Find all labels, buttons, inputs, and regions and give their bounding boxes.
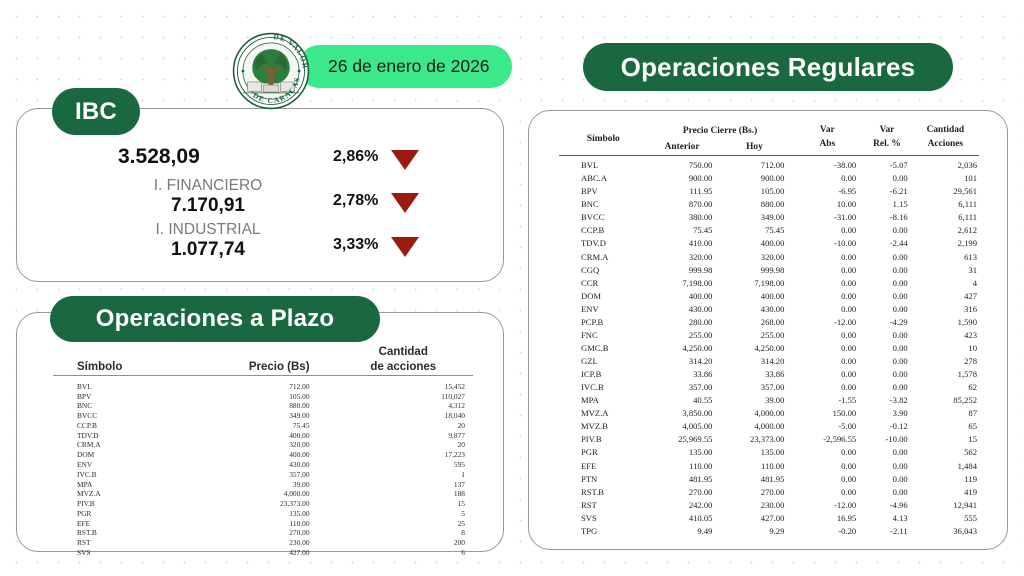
regulares-cell-hoy: 135.00 [716, 446, 792, 459]
table-row: EFE110.0025 [53, 519, 473, 529]
regulares-cell-anterior: 135.00 [648, 446, 717, 459]
regulares-cell-cantidad: 427 [912, 290, 979, 303]
regulares-cell-var_abs: 0.00 [792, 368, 862, 381]
regulares-cell-var_abs: -1.55 [792, 394, 862, 407]
plazo-cell-simbolo: CRM.A [53, 440, 176, 450]
regulares-cell-anterior: 33.86 [648, 368, 717, 381]
regulares-cell-anterior: 111.95 [648, 185, 717, 198]
regulares-cell-hoy: 4,000.00 [716, 420, 792, 433]
regulares-cell-var_rel: 3.90 [862, 407, 911, 420]
regulares-cell-hoy: 75.45 [716, 224, 792, 237]
table-row: PIV.B23,373.0015 [53, 499, 473, 509]
regulares-cell-var_abs: -12.00 [792, 499, 862, 512]
regulares-cell-hoy: 255.00 [716, 329, 792, 342]
reg-col-cantidad: Cantidad Acciones [912, 123, 979, 155]
ibc-financiero-value: 7.170,91 [171, 195, 245, 217]
regulares-cell-cantidad: 555 [912, 512, 979, 525]
regulares-cell-cantidad: 101 [912, 172, 979, 185]
plazo-cell-cantidad: 17,223 [342, 450, 473, 460]
regulares-cell-hoy: 357.00 [716, 381, 792, 394]
regulares-cell-anterior: 410.05 [648, 512, 717, 525]
table-row: BVCC349.0018,040 [53, 411, 473, 421]
regulares-cell-simbolo: RST [559, 499, 648, 512]
table-row: IVC.B357.00357.000.000.0062 [559, 381, 979, 394]
table-row: CCP.B75.4575.450.000.002,612 [559, 224, 979, 237]
regulares-cell-hoy: 400.00 [716, 237, 792, 250]
operaciones-plazo-card: Símbolo Precio (Bs) Cantidad de acciones… [16, 312, 504, 552]
regulares-cell-cantidad: 423 [912, 329, 979, 342]
regulares-cell-anterior: 314.20 [648, 355, 717, 368]
table-row: MVZ.A4,000.00188 [53, 489, 473, 499]
regulares-cell-cantidad: 562 [912, 446, 979, 459]
table-row: MVZ.B4,005.004,000.00-5.00-0.1265 [559, 420, 979, 433]
table-row: CGQ999.98999.980.000.0031 [559, 264, 979, 277]
table-row: CRM.A320.0020 [53, 440, 473, 450]
plazo-cell-cantidad: 4,312 [342, 401, 473, 411]
regulares-cell-simbolo: PIV.B [559, 433, 648, 446]
regulares-cell-simbolo: CCP.B [559, 224, 648, 237]
regulares-cell-var_rel: -2.11 [862, 525, 911, 538]
regulares-cell-cantidad: 31 [912, 264, 979, 277]
regulares-cell-simbolo: MPA [559, 394, 648, 407]
regulares-cell-var_abs: 0.00 [792, 329, 862, 342]
regulares-cell-anterior: 4,250.00 [648, 342, 717, 355]
table-row: TPG9.499.29-0.20-2.1136,043 [559, 525, 979, 538]
regulares-cell-simbolo: MVZ.B [559, 420, 648, 433]
regulares-cell-var_rel: 0.00 [862, 224, 911, 237]
plazo-header-row: Símbolo Precio (Bs) Cantidad de acciones [53, 345, 473, 376]
regulares-cell-hoy: 270.00 [716, 486, 792, 499]
regulares-cell-var_abs: 0.00 [792, 486, 862, 499]
regulares-cell-var_abs: 0.00 [792, 446, 862, 459]
regulares-cell-var_rel: -2.44 [862, 237, 911, 250]
regulares-cell-var_rel: 0.00 [862, 329, 911, 342]
regulares-cell-var_abs: 150.00 [792, 407, 862, 420]
regulares-cell-hoy: 712.00 [716, 159, 792, 172]
regulares-cell-anterior: 242.00 [648, 499, 717, 512]
regulares-cell-anterior: 255.00 [648, 329, 717, 342]
regulares-cell-var_rel: -4.29 [862, 316, 911, 329]
regulares-cell-hoy: 7,198.00 [716, 277, 792, 290]
regulares-cell-var_abs: 0.00 [792, 290, 862, 303]
regulares-cell-var_abs: 0.00 [792, 224, 862, 237]
table-row: RST242.00230.00-12.00-4.9612,941 [559, 499, 979, 512]
regulares-cell-simbolo: TPG [559, 525, 648, 538]
regulares-cell-simbolo: RST.B [559, 486, 648, 499]
regulares-cell-var_abs: 0.00 [792, 303, 862, 316]
table-row: BPV105.00110,027 [53, 392, 473, 402]
regulares-cell-hoy: 105.00 [716, 185, 792, 198]
regulares-cell-anterior: 380.00 [648, 211, 717, 224]
ibc-pill-label: IBC [75, 98, 117, 126]
regulares-cell-anterior: 357.00 [648, 381, 717, 394]
table-row: BVL750.00712.00-38.00-5.072,036 [559, 159, 979, 172]
bvc-logo: BOLSA DE VALORES DE CARACAS [232, 32, 310, 110]
regulares-cell-hoy: 400.00 [716, 290, 792, 303]
table-row: BNC880.004,312 [53, 401, 473, 411]
table-row: PIV.B25,969.5523,373.00-2,596.55-10.0015 [559, 433, 979, 446]
regulares-cell-cantidad: 613 [912, 251, 979, 264]
plazo-cell-simbolo: BPV [53, 392, 176, 402]
plazo-cell-precio: 357.00 [176, 470, 341, 480]
regulares-cell-var_rel: -0.12 [862, 420, 911, 433]
regulares-cell-var_rel: 0.00 [862, 381, 911, 394]
regulares-cell-cantidad: 10 [912, 342, 979, 355]
ibc-main-pct: 2,86% [333, 148, 378, 166]
plazo-cell-cantidad: 188 [342, 489, 473, 499]
ibc-industrial-label: I. INDUSTRIAL [155, 221, 260, 239]
date-label: 26 de enero de 2026 [328, 56, 490, 77]
plazo-cell-precio: 230.00 [176, 538, 341, 548]
regulares-cell-cantidad: 316 [912, 303, 979, 316]
plazo-cell-simbolo: MPA [53, 480, 176, 490]
plazo-cell-cantidad: 18,040 [342, 411, 473, 421]
plazo-cell-simbolo: SVS [53, 548, 176, 558]
ibc-financiero-label: I. FINANCIERO [154, 177, 263, 195]
regulares-cell-hoy: 481.95 [716, 473, 792, 486]
regulares-cell-simbolo: EFE [559, 460, 648, 473]
plazo-col-cantidad: Cantidad de acciones [342, 345, 473, 376]
plazo-cell-simbolo: DOM [53, 450, 176, 460]
table-row: ENV430.00595 [53, 460, 473, 470]
plazo-cell-simbolo: TDV.D [53, 431, 176, 441]
table-row: MPA39.00137 [53, 480, 473, 490]
regulares-cell-anterior: 280.00 [648, 316, 717, 329]
regulares-cell-var_abs: 0.00 [792, 172, 862, 185]
regulares-cell-var_abs: -31.00 [792, 211, 862, 224]
plazo-cell-cantidad: 1 [342, 470, 473, 480]
plazo-cell-simbolo: BNC [53, 401, 176, 411]
regulares-cell-var_abs: 0.00 [792, 342, 862, 355]
plazo-cell-precio: 400.00 [176, 431, 341, 441]
regulares-cell-var_abs: 0.00 [792, 277, 862, 290]
table-row: PGR135.00135.000.000.00562 [559, 446, 979, 459]
ibc-row-industrial: I. INDUSTRIAL 1.077,74 [118, 221, 298, 261]
regulares-cell-var_rel: 0.00 [862, 290, 911, 303]
table-row: MPA40.5539.00-1.55-3.8285,252 [559, 394, 979, 407]
regulares-cell-anterior: 400.00 [648, 290, 717, 303]
plazo-cell-precio: 270.00 [176, 528, 341, 538]
plazo-cell-cantidad: 20 [342, 440, 473, 450]
plazo-cell-cantidad: 200 [342, 538, 473, 548]
regulares-cell-simbolo: GZL [559, 355, 648, 368]
regulares-cell-hoy: 268.00 [716, 316, 792, 329]
reg-col-var-rel: Var Rel. % [862, 123, 911, 155]
regulares-cell-var_rel: 0.00 [862, 172, 911, 185]
plazo-cell-precio: 349.00 [176, 411, 341, 421]
regulares-cell-var_rel: -3.82 [862, 394, 911, 407]
regulares-cell-anterior: 9.49 [648, 525, 717, 538]
reg-col-precio-group: Precio Cierre (Bs.) [648, 123, 793, 139]
regulares-cell-hoy: 110.00 [716, 460, 792, 473]
regulares-cell-simbolo: PGR [559, 446, 648, 459]
plazo-cell-cantidad: 15,452 [342, 382, 473, 392]
plazo-table-body: BVL712.0015,452BPV105.00110,027BNC880.00… [53, 382, 473, 558]
regulares-cell-cantidad: 62 [912, 381, 979, 394]
table-row: CCR7,198.007,198.000.000.004 [559, 277, 979, 290]
plazo-col-simbolo: Símbolo [53, 345, 176, 376]
regulares-cell-var_abs: -2,596.55 [792, 433, 862, 446]
regulares-cell-anterior: 110.00 [648, 460, 717, 473]
operaciones-plazo-label: Operaciones a Plazo [96, 305, 335, 333]
plazo-cell-simbolo: MVZ.A [53, 489, 176, 499]
regulares-cell-anterior: 481.95 [648, 473, 717, 486]
plazo-cell-precio: 23,373.00 [176, 499, 341, 509]
regulares-cell-cantidad: 87 [912, 407, 979, 420]
regulares-cell-var_rel: -8.16 [862, 211, 911, 224]
regulares-table-head: Símbolo Precio Cierre (Bs.) Var Abs Var … [559, 123, 979, 159]
plazo-cell-simbolo: CCP.B [53, 421, 176, 431]
regulares-cell-var_rel: 0.00 [862, 303, 911, 316]
plazo-cell-simbolo: PGR [53, 509, 176, 519]
regulares-cell-hoy: 23,373.00 [716, 433, 792, 446]
plazo-cell-cantidad: 110,027 [342, 392, 473, 402]
plazo-cell-simbolo: ENV [53, 460, 176, 470]
regulares-cell-simbolo: ICP.B [559, 368, 648, 381]
plazo-cell-simbolo: RST [53, 538, 176, 548]
regulares-cell-var_rel: -5.07 [862, 159, 911, 172]
regulares-cell-var_rel: 0.00 [862, 355, 911, 368]
regulares-cell-simbolo: CCR [559, 277, 648, 290]
plazo-cell-precio: 400.00 [176, 450, 341, 460]
table-row: ICP.B33.8633.860.000.001,578 [559, 368, 979, 381]
plazo-cell-simbolo: RST.B [53, 528, 176, 538]
regulares-cell-var_abs: 10.00 [792, 198, 862, 211]
ibc-main-down-arrow-icon [391, 150, 419, 170]
table-row: DOM400.00400.000.000.00427 [559, 290, 979, 303]
regulares-cell-var_rel: 0.00 [862, 446, 911, 459]
regulares-cell-var_abs: -0.20 [792, 525, 862, 538]
regulares-cell-anterior: 270.00 [648, 486, 717, 499]
regulares-cell-simbolo: SVS [559, 512, 648, 525]
plazo-cell-cantidad: 6 [342, 548, 473, 558]
regulares-cell-cantidad: 278 [912, 355, 979, 368]
plazo-col-precio: Precio (Bs) [176, 345, 341, 376]
regulares-cell-anterior: 25,969.55 [648, 433, 717, 446]
table-row: PGR135.005 [53, 509, 473, 519]
plazo-cell-precio: 135.00 [176, 509, 341, 519]
regulares-cell-hoy: 33.86 [716, 368, 792, 381]
reg-col-var-abs-line2: Abs [792, 137, 862, 151]
plazo-cell-precio: 430.00 [176, 460, 341, 470]
regulares-cell-hoy: 9.29 [716, 525, 792, 538]
regulares-cell-anterior: 40.55 [648, 394, 717, 407]
regulares-cell-simbolo: FNC [559, 329, 648, 342]
operaciones-plazo-table: Símbolo Precio (Bs) Cantidad de acciones… [53, 345, 473, 558]
regulares-cell-cantidad: 6,111 [912, 198, 979, 211]
table-row: GMC.B4,250.004,250.000.000.0010 [559, 342, 979, 355]
regulares-cell-var_rel: -10.00 [862, 433, 911, 446]
regulares-cell-var_rel: 0.00 [862, 251, 911, 264]
plazo-cell-cantidad: 595 [342, 460, 473, 470]
regulares-cell-var_rel: 0.00 [862, 342, 911, 355]
table-row: EFE110.00110.000.000.001,484 [559, 460, 979, 473]
ibc-pill-heading: IBC [52, 88, 140, 135]
reg-col-cantidad-line1: Cantidad [912, 123, 979, 137]
regulares-cell-hoy: 230.00 [716, 499, 792, 512]
ibc-main-value: 3.528,09 [118, 145, 200, 169]
plazo-cell-cantidad: 5 [342, 509, 473, 519]
regulares-cell-var_abs: 0.00 [792, 355, 862, 368]
operaciones-regulares-card: Símbolo Precio Cierre (Bs.) Var Abs Var … [528, 110, 1008, 550]
regulares-cell-var_rel: 0.00 [862, 264, 911, 277]
regulares-cell-cantidad: 65 [912, 420, 979, 433]
plazo-cell-simbolo: BVL [53, 382, 176, 392]
table-row: ABC.A900.00900.000.000.00101 [559, 172, 979, 185]
regulares-cell-simbolo: CRM.A [559, 251, 648, 264]
ibc-industrial-down-arrow-icon [391, 237, 419, 257]
table-row: GZL314.20314.200.000.00278 [559, 355, 979, 368]
regulares-cell-simbolo: DOM [559, 290, 648, 303]
regulares-cell-cantidad: 6,111 [912, 211, 979, 224]
plazo-cell-simbolo: IVC.B [53, 470, 176, 480]
regulares-cell-hoy: 900.00 [716, 172, 792, 185]
table-row: MVZ.A3,850.004,000.00150.003.9087 [559, 407, 979, 420]
regulares-cell-simbolo: BPV [559, 185, 648, 198]
operaciones-regulares-pill-heading: Operaciones Regulares [583, 43, 953, 91]
table-row: BVL712.0015,452 [53, 382, 473, 392]
regulares-cell-anterior: 3,850.00 [648, 407, 717, 420]
reg-col-var-rel-line1: Var [862, 123, 911, 137]
regulares-cell-anterior: 75.45 [648, 224, 717, 237]
table-row: TDV.D400.009,877 [53, 431, 473, 441]
regulares-cell-simbolo: TDV.D [559, 237, 648, 250]
regulares-cell-cantidad: 29,561 [912, 185, 979, 198]
regulares-cell-var_abs: -10.00 [792, 237, 862, 250]
plazo-cell-cantidad: 20 [342, 421, 473, 431]
reg-col-hoy: Hoy [716, 139, 792, 155]
table-row: IVC.B357.001 [53, 470, 473, 480]
regulares-cell-simbolo: ENV [559, 303, 648, 316]
ibc-financiero-pct: 2,78% [333, 192, 378, 210]
regulares-cell-simbolo: PCP.B [559, 316, 648, 329]
table-row: BPV111.95105.00-6.95-6.2129,561 [559, 185, 979, 198]
table-row: SVS427.006 [53, 548, 473, 558]
bvc-seal-icon: BOLSA DE VALORES DE CARACAS [232, 32, 310, 110]
plazo-cell-precio: 4,000.00 [176, 489, 341, 499]
regulares-cell-var_abs: 0.00 [792, 381, 862, 394]
regulares-cell-var_rel: 0.00 [862, 460, 911, 473]
table-row: SVS410.05427.0016.954.13555 [559, 512, 979, 525]
table-row: RST230.00200 [53, 538, 473, 548]
regulares-cell-anterior: 4,005.00 [648, 420, 717, 433]
plazo-cell-precio: 880.00 [176, 401, 341, 411]
plazo-cell-cantidad: 25 [342, 519, 473, 529]
regulares-cell-var_rel: -6.21 [862, 185, 911, 198]
reg-col-var-abs: Var Abs [792, 123, 862, 155]
table-row: RST.B270.00270.000.000.00419 [559, 486, 979, 499]
ibc-industrial-pct: 3,33% [333, 236, 378, 254]
date-badge: 26 de enero de 2026 [298, 45, 512, 88]
table-row: DOM400.0017,223 [53, 450, 473, 460]
regulares-cell-hoy: 39.00 [716, 394, 792, 407]
regulares-cell-var_abs: -6.95 [792, 185, 862, 198]
regulares-cell-hoy: 430.00 [716, 303, 792, 316]
regulares-header-group-row: Símbolo Precio Cierre (Bs.) Var Abs Var … [559, 123, 979, 139]
regulares-cell-simbolo: BVCC [559, 211, 648, 224]
regulares-cell-simbolo: CGQ [559, 264, 648, 277]
plazo-cell-cantidad: 8 [342, 528, 473, 538]
operaciones-plazo-pill-heading: Operaciones a Plazo [50, 296, 380, 342]
regulares-table-body: BVL750.00712.00-38.00-5.072,036ABC.A900.… [559, 159, 979, 538]
regulares-cell-var_abs: -38.00 [792, 159, 862, 172]
plazo-col-cantidad-line1: Cantidad [342, 345, 465, 360]
regulares-cell-anterior: 320.00 [648, 251, 717, 264]
regulares-cell-var_abs: 16.95 [792, 512, 862, 525]
regulares-cell-cantidad: 85,252 [912, 394, 979, 407]
regulares-cell-anterior: 430.00 [648, 303, 717, 316]
regulares-cell-cantidad: 1,484 [912, 460, 979, 473]
table-row: BNC870.00880.0010.001.156,111 [559, 198, 979, 211]
regulares-cell-hoy: 320.00 [716, 251, 792, 264]
regulares-cell-cantidad: 12,941 [912, 499, 979, 512]
plazo-cell-precio: 320.00 [176, 440, 341, 450]
regulares-cell-var_abs: -5.00 [792, 420, 862, 433]
plazo-cell-simbolo: BVCC [53, 411, 176, 421]
regulares-cell-cantidad: 15 [912, 433, 979, 446]
regulares-cell-var_rel: 0.00 [862, 473, 911, 486]
reg-col-simbolo: Símbolo [559, 123, 648, 155]
plazo-cell-precio: 105.00 [176, 392, 341, 402]
table-row: CCP.B75.4520 [53, 421, 473, 431]
plazo-cell-simbolo: PIV.B [53, 499, 176, 509]
operaciones-regulares-table: Símbolo Precio Cierre (Bs.) Var Abs Var … [559, 123, 979, 538]
plazo-cell-precio: 427.00 [176, 548, 341, 558]
plazo-cell-precio: 39.00 [176, 480, 341, 490]
regulares-cell-simbolo: BVL [559, 159, 648, 172]
regulares-cell-var_abs: 0.00 [792, 473, 862, 486]
regulares-cell-var_abs: 0.00 [792, 460, 862, 473]
regulares-cell-cantidad: 2,612 [912, 224, 979, 237]
plazo-cell-precio: 110.00 [176, 519, 341, 529]
regulares-cell-var_abs: 0.00 [792, 264, 862, 277]
regulares-cell-cantidad: 4 [912, 277, 979, 290]
plazo-cell-precio: 75.45 [176, 421, 341, 431]
reg-col-var-rel-line2: Rel. % [862, 137, 911, 151]
ibc-row-main: 3.528,09 [118, 145, 200, 169]
plazo-cell-precio: 712.00 [176, 382, 341, 392]
table-row: PTN481.95481.950.000.00119 [559, 473, 979, 486]
regulares-cell-cantidad: 1,590 [912, 316, 979, 329]
regulares-cell-anterior: 900.00 [648, 172, 717, 185]
regulares-cell-var_abs: -12.00 [792, 316, 862, 329]
regulares-cell-simbolo: GMC.B [559, 342, 648, 355]
regulares-cell-simbolo: MVZ.A [559, 407, 648, 420]
regulares-cell-simbolo: BNC [559, 198, 648, 211]
regulares-cell-var_rel: 0.00 [862, 368, 911, 381]
regulares-cell-cantidad: 1,578 [912, 368, 979, 381]
operaciones-regulares-label: Operaciones Regulares [621, 52, 916, 83]
regulares-cell-var_rel: 0.00 [862, 486, 911, 499]
table-row: PCP.B280.00268.00-12.00-4.291,590 [559, 316, 979, 329]
regulares-cell-anterior: 750.00 [648, 159, 717, 172]
table-row: RST.B270.008 [53, 528, 473, 538]
regulares-cell-hoy: 349.00 [716, 211, 792, 224]
plazo-cell-cantidad: 15 [342, 499, 473, 509]
reg-col-anterior: Anterior [648, 139, 717, 155]
regulares-cell-anterior: 410.00 [648, 237, 717, 250]
table-row: ENV430.00430.000.000.00316 [559, 303, 979, 316]
plazo-table-head: Símbolo Precio (Bs) Cantidad de acciones [53, 345, 473, 382]
regulares-cell-hoy: 427.00 [716, 512, 792, 525]
regulares-cell-hoy: 999.98 [716, 264, 792, 277]
regulares-cell-hoy: 880.00 [716, 198, 792, 211]
ibc-row-financiero: I. FINANCIERO 7.170,91 [118, 177, 298, 217]
regulares-cell-anterior: 999.98 [648, 264, 717, 277]
regulares-cell-var_rel: -4.96 [862, 499, 911, 512]
regulares-cell-cantidad: 36,043 [912, 525, 979, 538]
regulares-cell-var_rel: 0.00 [862, 277, 911, 290]
